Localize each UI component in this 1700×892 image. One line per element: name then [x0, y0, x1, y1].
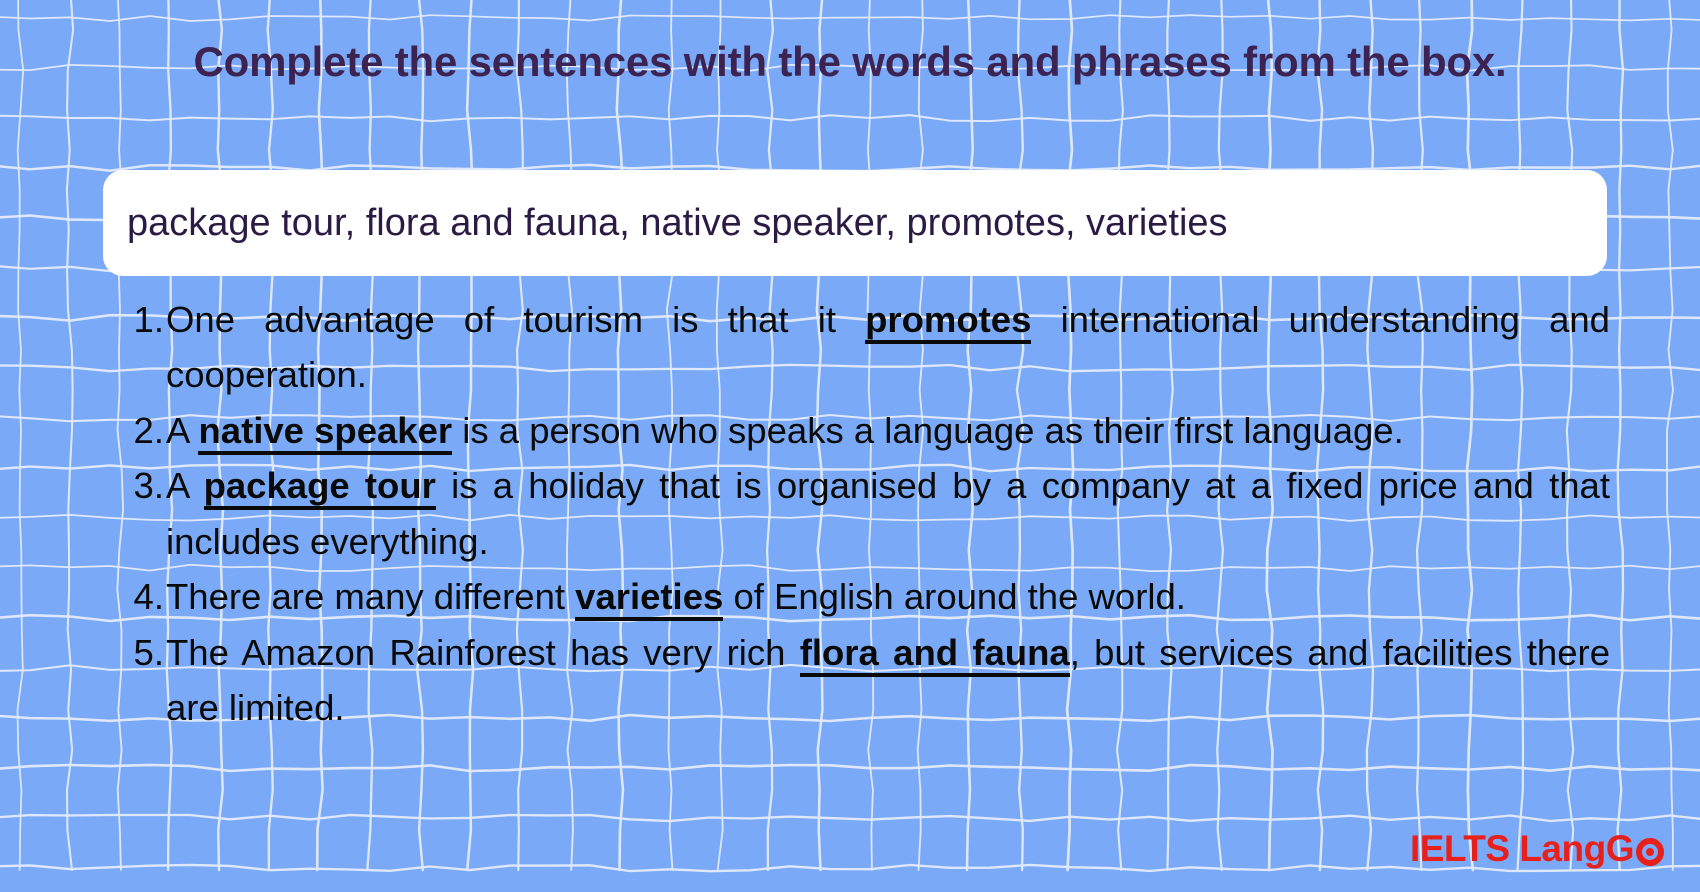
- sentence-prefix: One advantage of tourism is that it: [166, 299, 865, 340]
- sentence-answer: flora and fauna: [800, 632, 1070, 677]
- word-bank-text: package tour, flora and fauna, native sp…: [127, 202, 1228, 245]
- sentence-item: 5.The Amazon Rainforest has very rich fl…: [118, 625, 1610, 736]
- sentence-number: 1.: [118, 292, 164, 347]
- sentence-text: The Amazon Rainforest has very rich flor…: [164, 625, 1610, 736]
- sentence-prefix: A: [166, 465, 204, 506]
- sentence-list: 1.One advantage of tourism is that it pr…: [118, 292, 1610, 736]
- logo-ring-icon: [1636, 838, 1664, 866]
- sentence-number: 3.: [118, 458, 164, 513]
- sentence-answer: varieties: [575, 576, 723, 621]
- sentence-suffix: is a person who speaks a language as the…: [452, 410, 1404, 451]
- page-title: Complete the sentences with the words an…: [120, 32, 1580, 93]
- sentence-suffix: of English around the world.: [723, 576, 1186, 617]
- sentence-prefix: There are many different: [166, 576, 575, 617]
- sentence-text: A package tour is a holiday that is orga…: [164, 458, 1610, 569]
- brand-logo-text: IELTS LangG: [1410, 828, 1634, 870]
- sentence-prefix: A: [166, 410, 198, 451]
- sentence-item: 4.There are many different varieties of …: [118, 569, 1610, 624]
- brand-logo: IELTS LangG: [1410, 828, 1664, 870]
- sentence-number: 4.: [118, 569, 164, 624]
- sentence-item: 1.One advantage of tourism is that it pr…: [118, 292, 1610, 403]
- sentence-text: One advantage of tourism is that it prom…: [164, 292, 1610, 403]
- worksheet-canvas: Complete the sentences with the words an…: [0, 0, 1700, 892]
- sentence-number: 2.: [118, 403, 164, 458]
- sentence-answer: promotes: [865, 299, 1031, 344]
- sentence-prefix: The Amazon Rainforest has very rich: [166, 632, 800, 673]
- sentence-answer: package tour: [204, 465, 436, 510]
- sentence-item: 2.A native speaker is a person who speak…: [118, 403, 1610, 458]
- sentence-number: 5.: [118, 625, 164, 680]
- sentence-item: 3.A package tour is a holiday that is or…: [118, 458, 1610, 569]
- word-bank-box: package tour, flora and fauna, native sp…: [103, 170, 1607, 276]
- sentence-text: There are many different varieties of En…: [164, 569, 1610, 624]
- sentence-text: A native speaker is a person who speaks …: [164, 403, 1610, 458]
- sentence-answer: native speaker: [198, 410, 452, 455]
